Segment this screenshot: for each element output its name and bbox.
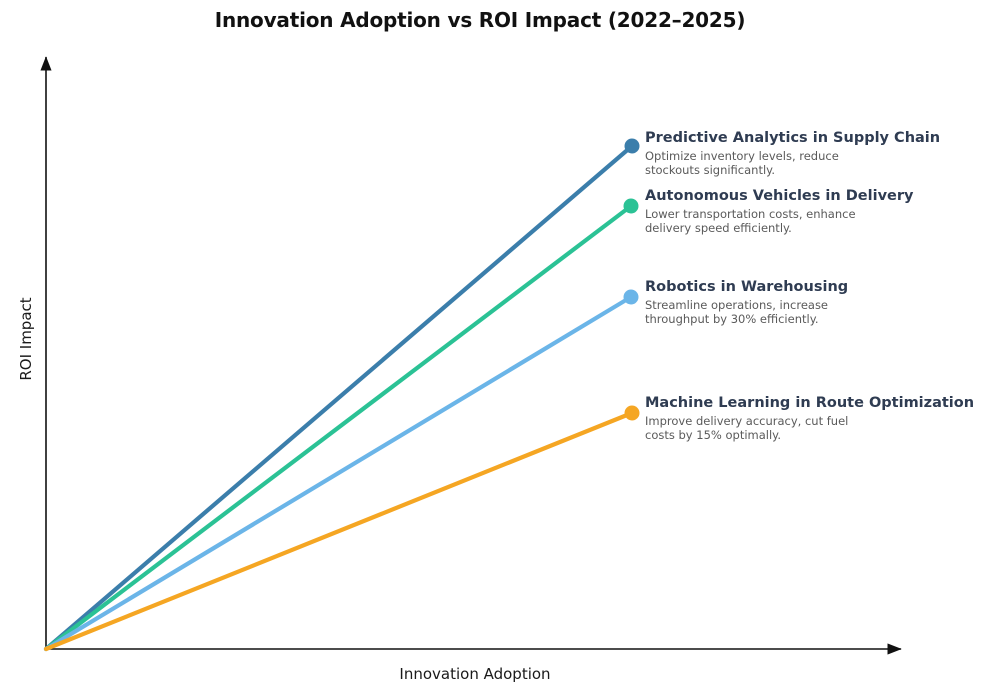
series-line-4[interactable] <box>46 413 632 649</box>
series-annotation-2[interactable]: Autonomous Vehicles in Delivery Lower tr… <box>645 188 995 236</box>
y-axis-label: ROI Impact <box>17 279 35 399</box>
series-annotation-title-2: Autonomous Vehicles in Delivery <box>645 188 995 205</box>
series-annotation-3[interactable]: Robotics in Warehousing Streamline opera… <box>645 279 995 327</box>
series-annotation-desc-line1-2: Lower transportation costs, enhance <box>645 207 856 221</box>
series-annotation-title-3: Robotics in Warehousing <box>645 279 995 296</box>
chart-plot-area <box>0 0 1000 700</box>
series-annotation-desc-line1-1: Optimize inventory levels, reduce <box>645 149 839 163</box>
series-annotation-desc-line2-4: costs by 15% optimally. <box>645 428 781 442</box>
series-annotation-title-4: Machine Learning in Route Optimization <box>645 395 995 412</box>
series-endpoint-marker-4[interactable] <box>625 406 640 421</box>
x-axis-label: Innovation Adoption <box>0 665 950 683</box>
series-annotation-desc-3: Streamline operations, increase throughp… <box>645 298 865 327</box>
series-annotation-desc-line2-1: stockouts significantly. <box>645 163 775 177</box>
series-annotation-desc-line2-2: delivery speed efficiently. <box>645 221 792 235</box>
series-line-1[interactable] <box>46 146 632 649</box>
series-line-2[interactable] <box>46 206 631 649</box>
series-annotation-title-1: Predictive Analytics in Supply Chain <box>645 130 995 147</box>
series-endpoint-marker-3[interactable] <box>624 290 639 305</box>
series-annotation-4[interactable]: Machine Learning in Route Optimization I… <box>645 395 995 443</box>
series-annotation-desc-2: Lower transportation costs, enhance deli… <box>645 207 865 236</box>
series-annotation-desc-1: Optimize inventory levels, reduce stocko… <box>645 149 865 178</box>
series-annotation-desc-line1-4: Improve delivery accuracy, cut fuel <box>645 414 848 428</box>
series-annotation-desc-4: Improve delivery accuracy, cut fuel cost… <box>645 414 865 443</box>
series-endpoint-marker-1[interactable] <box>625 139 640 154</box>
chart-canvas: Innovation Adoption vs ROI Impact (2022–… <box>0 0 1000 700</box>
series-annotation-desc-line2-3: throughput by 30% efficiently. <box>645 312 819 326</box>
series-endpoint-marker-2[interactable] <box>624 199 639 214</box>
series-annotation-1[interactable]: Predictive Analytics in Supply Chain Opt… <box>645 130 995 178</box>
series-annotation-desc-line1-3: Streamline operations, increase <box>645 298 828 312</box>
series-line-3[interactable] <box>46 297 631 649</box>
